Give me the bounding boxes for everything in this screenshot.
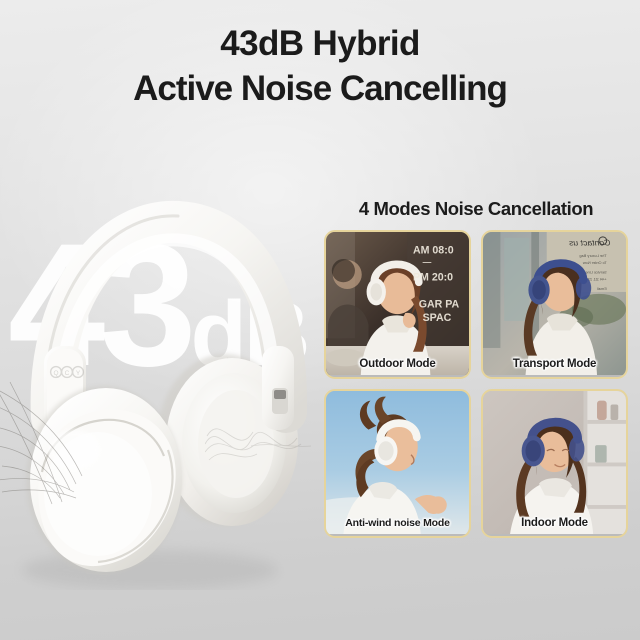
card-photo-indoor	[483, 391, 626, 534]
sound-wave-graphic-left	[0, 380, 116, 510]
mode-card-label: Outdoor Mode	[326, 358, 469, 370]
headline-line-1: 43dB Hybrid	[0, 22, 640, 67]
mode-card-antiwind[interactable]: Anti-wind noise Mode	[324, 389, 471, 538]
svg-text:PM 20:0: PM 20:0	[413, 271, 453, 283]
mode-card-indoor[interactable]: Indoor Mode	[481, 389, 628, 538]
svg-text:SPAC: SPAC	[423, 312, 452, 324]
product-poster: 43dB Hybrid Active Noise Cancelling 43dB	[0, 0, 640, 640]
svg-text:To Order Now: To Order Now	[583, 261, 607, 265]
card-photo-antiwind	[326, 391, 469, 534]
svg-text:Contact us: Contact us	[568, 238, 610, 248]
mode-card-transport[interactable]: Contact us The Luxury Bag To Order Now S…	[481, 230, 628, 379]
card-photo-transport: Contact us The Luxury Bag To Order Now S…	[483, 232, 626, 375]
svg-text:GAR PA: GAR PA	[419, 298, 460, 310]
svg-text:The Luxury Bag: The Luxury Bag	[579, 254, 606, 258]
svg-text:Email: Email	[597, 287, 607, 291]
svg-text:Service Line: Service Line	[585, 271, 606, 275]
mode-card-label: Anti-wind noise Mode	[326, 517, 469, 529]
mode-card-outdoor[interactable]: AM 08:0 — PM 20:0 GAR PA SPAC Outdoor Mo…	[324, 230, 471, 379]
headline-line-2: Active Noise Cancelling	[0, 67, 640, 112]
page-title: 43dB Hybrid Active Noise Cancelling	[0, 22, 640, 112]
svg-text:C: C	[65, 370, 70, 377]
card-photo-outdoor: AM 08:0 — PM 20:0 GAR PA SPAC	[326, 232, 469, 375]
svg-text:Y: Y	[76, 370, 81, 377]
mode-card-label: Indoor Mode	[483, 517, 626, 529]
svg-text:AM 08:0: AM 08:0	[413, 244, 454, 256]
modes-grid: AM 08:0 — PM 20:0 GAR PA SPAC Outdoor Mo…	[324, 230, 628, 538]
sound-wave-graphic-earcup	[205, 400, 315, 490]
section-title: 4 Modes Noise Cancellation	[322, 198, 630, 220]
mode-card-label: Transport Mode	[483, 358, 626, 370]
headphones-product-image: Q C Y	[0, 150, 340, 590]
svg-text:Q: Q	[53, 370, 58, 377]
svg-text:—: —	[423, 257, 432, 267]
